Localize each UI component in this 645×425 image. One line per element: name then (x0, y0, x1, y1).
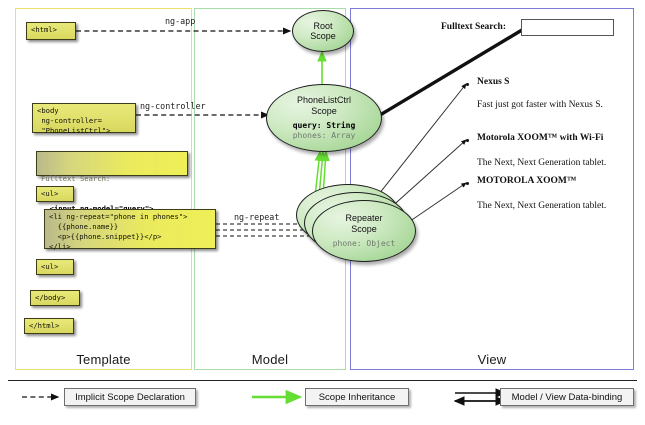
legend-item-scope-inheritance: Scope Inheritance (305, 388, 409, 406)
legend-item-implicit-scope-declaration: Implicit Scope Declaration (64, 388, 196, 406)
node-repeater-scope[interactable]: RepeaterScope phone: Object (312, 200, 416, 262)
legend-item-model-view-data-binding: Model / View Data-binding (500, 388, 634, 406)
legend-label: Model / View Data-binding (512, 392, 623, 403)
repeater-scope-label: RepeaterScope (345, 213, 382, 234)
legend-label: Implicit Scope Declaration (75, 392, 185, 403)
prop-phone: phone: Object (333, 239, 396, 249)
legend-label: Scope Inheritance (319, 392, 396, 403)
diagram-canvas: Template Model View (0, 0, 645, 425)
repeater-scope-props: phone: Object (333, 239, 396, 249)
